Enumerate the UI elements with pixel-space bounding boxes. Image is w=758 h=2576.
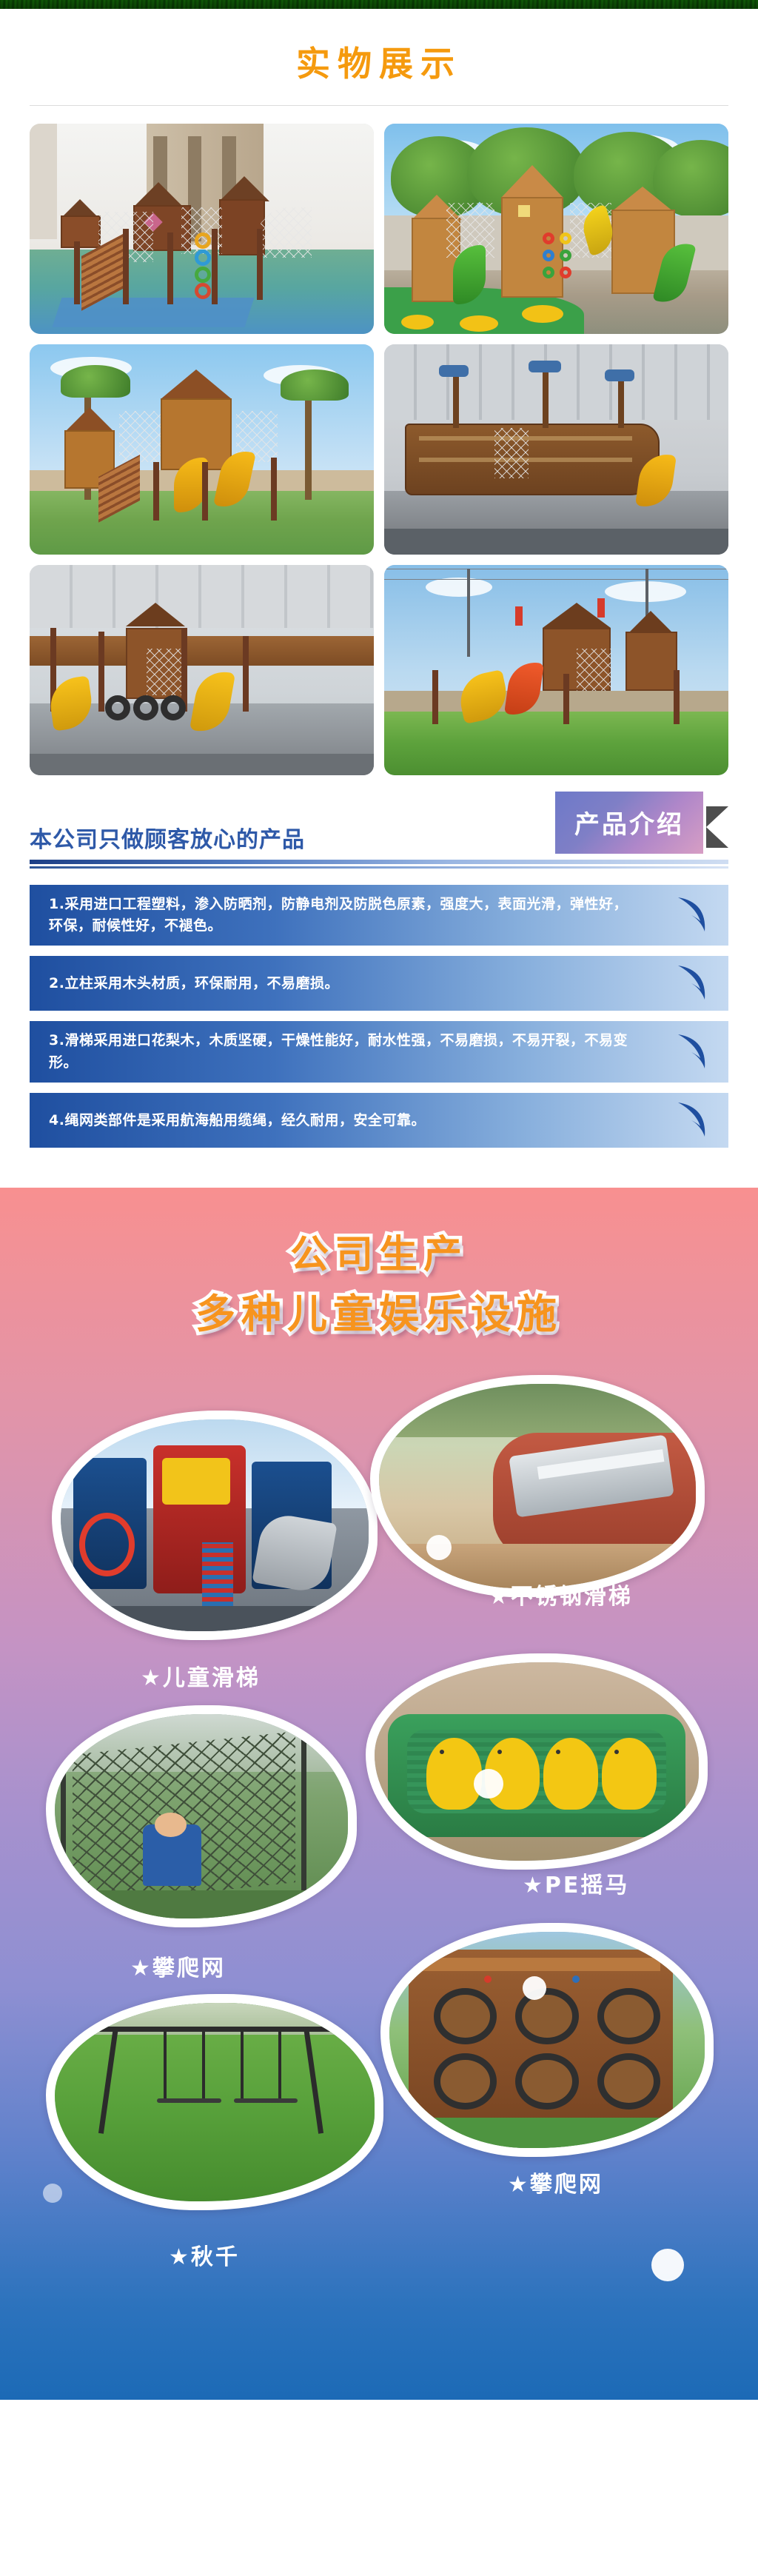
showcase-title: 实物展示	[0, 30, 758, 105]
grass-divider-top	[0, 0, 758, 9]
facilities-title: 公司生产 多种儿童娱乐设施	[0, 1226, 758, 1344]
feature-item-2: 2.立柱采用木头材质，环保耐用，不易磨损。	[30, 956, 728, 1011]
product-intro-badge: 产品介绍	[555, 792, 703, 854]
swoosh-arrow-icon	[675, 1033, 709, 1071]
facilities-title-line-1: 公司生产	[0, 1226, 758, 1284]
decorative-dot	[426, 1535, 452, 1560]
facility-label-children-slide: ★儿童滑梯	[141, 1659, 261, 1692]
showcase-photo-wooden-playground-green-slide[interactable]	[384, 124, 728, 334]
feature-text-2: 2.立柱采用木头材质，环保耐用，不易磨损。	[49, 973, 339, 994]
decorative-dot	[474, 1769, 503, 1799]
decorative-dot	[523, 1976, 546, 2000]
intro-divider-primary	[30, 860, 728, 864]
decorative-dot	[651, 2249, 684, 2281]
swoosh-arrow-icon	[675, 896, 709, 934]
facilities-title-line-2: 多种儿童娱乐设施	[0, 1284, 758, 1344]
facility-photo-children-slide-combination[interactable]	[52, 1411, 378, 1640]
facility-label-stainless-steel-slide: ★不锈钢滑梯	[489, 1578, 633, 1610]
product-intro-header: 本公司只做顾客放心的产品 产品介绍	[30, 796, 728, 860]
showcase-photo-wooden-playground-palm-trees[interactable]	[30, 344, 374, 555]
showcase-photo-wooden-castle-playground-apartment[interactable]	[30, 124, 374, 334]
showcase-photo-grid	[30, 113, 728, 792]
facility-label-swing: ★秋千	[169, 2238, 240, 2271]
swoosh-arrow-icon	[675, 964, 709, 1003]
feature-text-1: 1.采用进口工程塑料，渗入防晒剂，防静电剂及防脱色原素，强度大，表面光滑，弹性好…	[49, 894, 640, 937]
intro-divider-secondary	[30, 866, 728, 869]
product-intro-heading: 本公司只做顾客放心的产品	[30, 821, 305, 854]
feature-item-3: 3.滑梯采用进口花梨木，木质坚硬，干燥性能好，耐水性强，不易磨损，不易开裂，不易…	[30, 1021, 728, 1083]
facility-photo-swing-set-lawn[interactable]	[46, 1994, 383, 2210]
facility-label-climbing-net-2: ★攀爬网	[508, 2166, 603, 2198]
facility-photo-stainless-steel-slide[interactable]	[370, 1375, 705, 1597]
product-detail-page: 实物展示	[0, 0, 758, 2400]
facility-label-climbing-net: ★攀爬网	[130, 1950, 226, 1982]
showcase-divider	[30, 105, 728, 106]
facility-photo-climbing-net-rope[interactable]	[46, 1705, 357, 1927]
swoosh-arrow-icon	[675, 1101, 709, 1140]
showcase-section: 实物展示	[0, 9, 758, 792]
feature-item-1: 1.采用进口工程塑料，渗入防晒剂，防静电剂及防脱色原素，强度大，表面光滑，弹性好…	[30, 885, 728, 946]
showcase-photo-pirate-ship-playground-mall[interactable]	[384, 344, 728, 555]
product-intro-section: 本公司只做顾客放心的产品 产品介绍 1.采用进口工程塑料，渗入防晒剂，防静电剂及…	[30, 796, 728, 1188]
facility-photo-pe-rocking-horse[interactable]	[366, 1653, 708, 1870]
facility-photo-tire-climbing-frame[interactable]	[380, 1923, 714, 2157]
facility-label-pe-rocking-horse: ★PE摇马	[523, 1867, 629, 1899]
showcase-photo-outdoor-playground-lawn[interactable]	[384, 565, 728, 775]
facilities-section: 公司生产 多种儿童娱乐设施	[0, 1188, 758, 2400]
feature-text-3: 3.滑梯采用进口花梨木，木质坚硬，干燥性能好，耐水性强，不易磨损，不易开裂，不易…	[49, 1030, 640, 1074]
badge-fold-decoration	[706, 806, 728, 848]
feature-item-4: 4.绳网类部件是采用航海船用缆绳，经久耐用，安全可靠。	[30, 1093, 728, 1148]
feature-text-4: 4.绳网类部件是采用航海船用缆绳，经久耐用，安全可靠。	[49, 1110, 426, 1131]
facilities-grid: ★儿童滑梯 ★不锈钢滑梯	[0, 1363, 758, 2348]
showcase-photo-wooden-playground-yellow-slide[interactable]	[30, 565, 374, 775]
